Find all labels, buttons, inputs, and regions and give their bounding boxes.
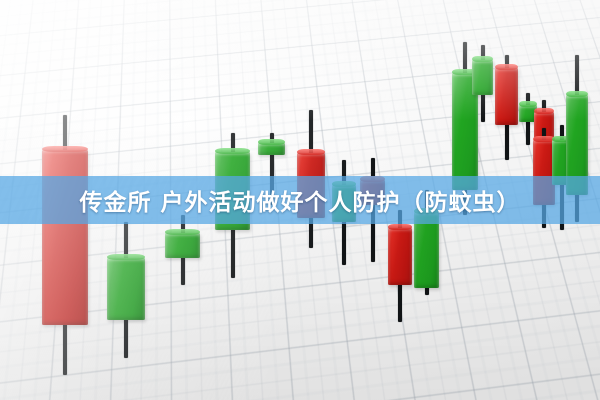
candle-1-body-down xyxy=(42,150,88,325)
candle-10-body-up xyxy=(414,212,439,288)
candle-2-body-up xyxy=(107,258,145,320)
candle-4-body-up xyxy=(215,152,250,230)
candle-8-wick xyxy=(371,158,375,262)
candle-9-body-down xyxy=(388,228,412,285)
candle-7-body-up xyxy=(332,185,356,222)
candle-6-body-down xyxy=(297,153,325,218)
candle-3-body-up xyxy=(165,233,200,258)
candle-13-body-down xyxy=(495,68,518,125)
candle-18-body-up xyxy=(566,95,588,195)
candlestick-banner-image: 传金所 户外活动做好个人防护（防蚊虫） xyxy=(0,0,600,400)
candle-12-body-up xyxy=(472,60,493,95)
candle-8-body-down xyxy=(360,180,385,205)
candle-5-body-up xyxy=(258,143,285,155)
candlestick-series xyxy=(0,0,600,400)
